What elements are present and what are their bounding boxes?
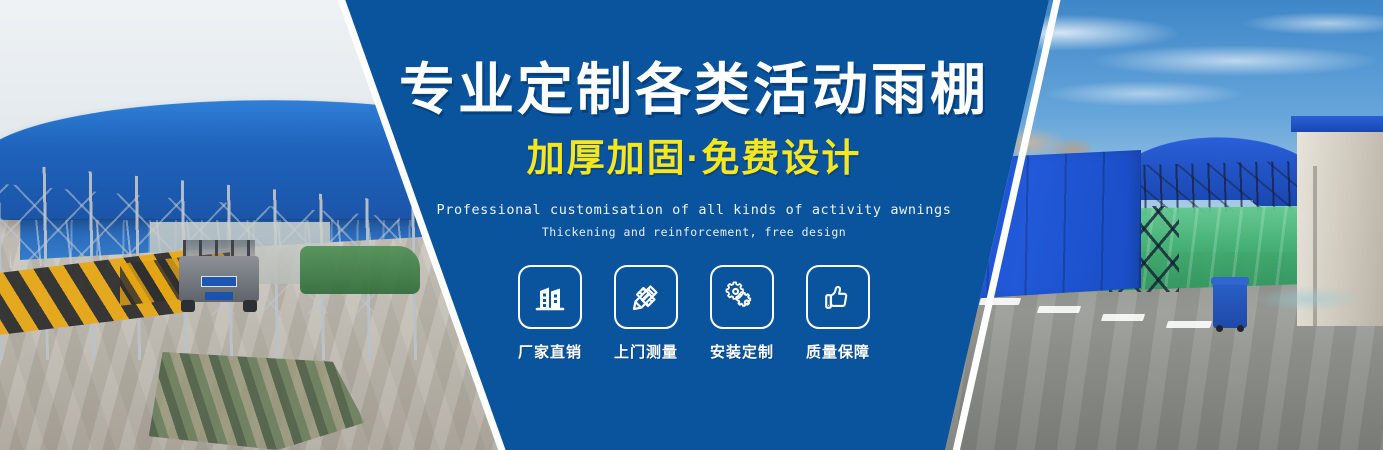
- right-photo: [923, 0, 1383, 450]
- right-photo-wheelie-bin: [1213, 282, 1247, 328]
- left-photo-green-tarp: [300, 246, 420, 294]
- truck-wheel-left: [181, 300, 195, 312]
- feature-item-quality-guarantee[interactable]: 质量保障: [806, 265, 870, 362]
- building-icon: [532, 279, 568, 315]
- feature-list: 厂家直销: [518, 265, 870, 362]
- feature-item-factory-direct[interactable]: 厂家直销: [518, 265, 582, 362]
- banner-subheadline: 加厚加固·免费设计: [527, 140, 862, 178]
- feature-label: 厂家直销: [518, 341, 582, 362]
- feature-badge: [710, 265, 774, 329]
- truck-wheel-right: [243, 300, 257, 312]
- feature-label: 上门测量: [614, 341, 678, 362]
- left-photo: [0, 0, 520, 450]
- feature-badge: [518, 265, 582, 329]
- ruler-pencil-icon: [628, 279, 664, 315]
- truck-rear-plate: [205, 292, 233, 300]
- feature-badge: [806, 265, 870, 329]
- promo-banner: 专业定制各类活动雨棚 加厚加固·免费设计 Professional custom…: [0, 0, 1383, 450]
- banner-english-line-2: Thickening and reinforcement, free desig…: [542, 225, 846, 239]
- banner-english-line-1: Professional customisation of all kinds …: [437, 202, 952, 218]
- feature-item-onsite-measure[interactable]: 上门测量: [614, 265, 678, 362]
- right-photo-puddle: [1253, 286, 1363, 312]
- feature-badge: [614, 265, 678, 329]
- truck-license-plate: [201, 276, 237, 287]
- thumbs-up-icon: [820, 279, 856, 315]
- feature-label: 安装定制: [710, 341, 774, 362]
- feature-item-install-custom[interactable]: 安装定制: [710, 265, 774, 362]
- gears-icon: [724, 279, 760, 315]
- right-photo-blue-tarp-wall: [951, 150, 1141, 300]
- left-photo-truck: [175, 238, 263, 316]
- banner-headline: 专业定制各类活动雨棚: [399, 62, 989, 118]
- feature-label: 质量保障: [806, 341, 870, 362]
